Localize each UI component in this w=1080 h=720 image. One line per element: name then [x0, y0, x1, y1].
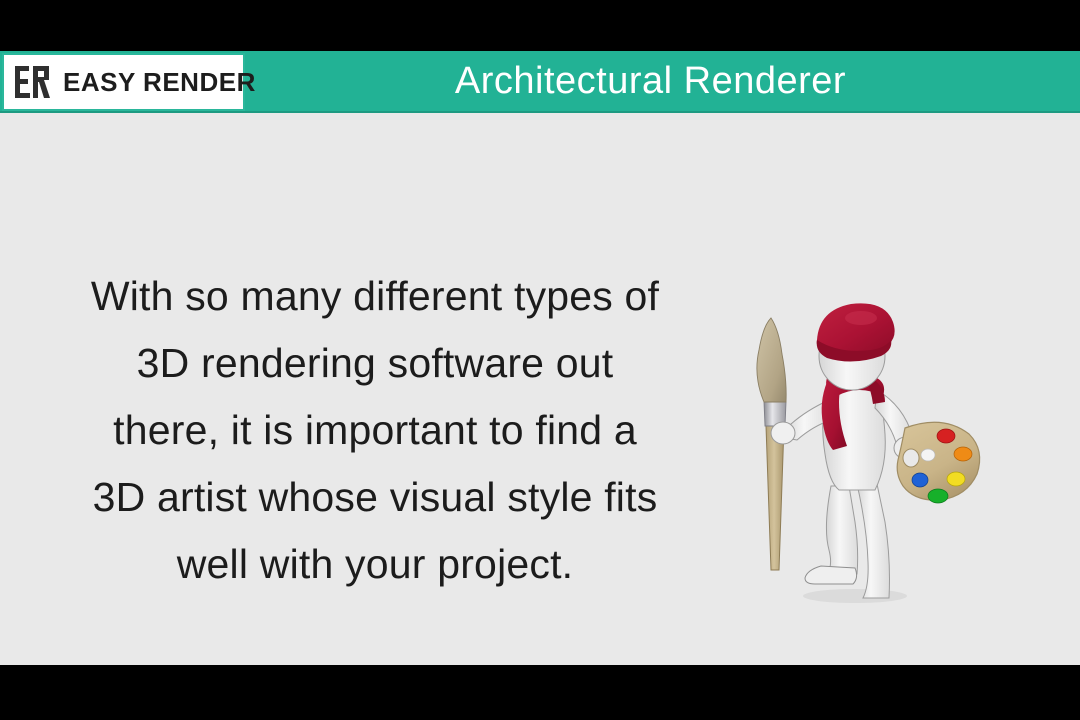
white-paint-blob [921, 449, 935, 461]
caption-line-5: well with your project. [30, 531, 720, 598]
figure-legs [805, 484, 890, 598]
caption-text: With so many different types of 3D rende… [30, 263, 720, 598]
green-paint-blob [928, 489, 948, 503]
red-paint-blob [937, 429, 955, 443]
caption-line-2: 3D rendering software out [30, 330, 720, 397]
brand-logo[interactable]: EASY RENDER [2, 53, 245, 111]
palette-thumb-hole [903, 449, 919, 467]
caption-line-4: 3D artist whose visual style fits [30, 464, 720, 531]
header-bar: EASY RENDER Architectural Renderer [0, 51, 1080, 113]
figure-ground-shadow [803, 589, 907, 603]
letterbox-bottom [0, 665, 1080, 720]
brush-bristles [757, 318, 786, 402]
figure-right-leg [857, 484, 890, 598]
page-title: Architectural Renderer [245, 51, 1080, 111]
video-player-stage: EASY RENDER Architectural Renderer With … [0, 0, 1080, 720]
video-frame: EASY RENDER Architectural Renderer With … [0, 51, 1080, 665]
paint-palette-icon [897, 422, 979, 503]
easy-render-monogram-icon [13, 64, 53, 100]
letterbox-top [0, 0, 1080, 51]
blue-paint-blob [912, 473, 928, 487]
beret-icon [817, 303, 895, 361]
orange-paint-blob [954, 447, 972, 461]
figure-left-hand [771, 422, 795, 444]
caption-line-3: there, it is important to find a [30, 397, 720, 464]
figure-left-foot [805, 566, 857, 584]
caption-line-1: With so many different types of [30, 263, 720, 330]
brand-logo-text: EASY RENDER [63, 67, 256, 98]
3d-artist-illustration [735, 278, 995, 608]
yellow-paint-blob [947, 472, 965, 486]
brush-handle [766, 426, 784, 570]
content-area: With so many different types of 3D rende… [0, 113, 1080, 665]
figure-left-leg [826, 486, 857, 574]
